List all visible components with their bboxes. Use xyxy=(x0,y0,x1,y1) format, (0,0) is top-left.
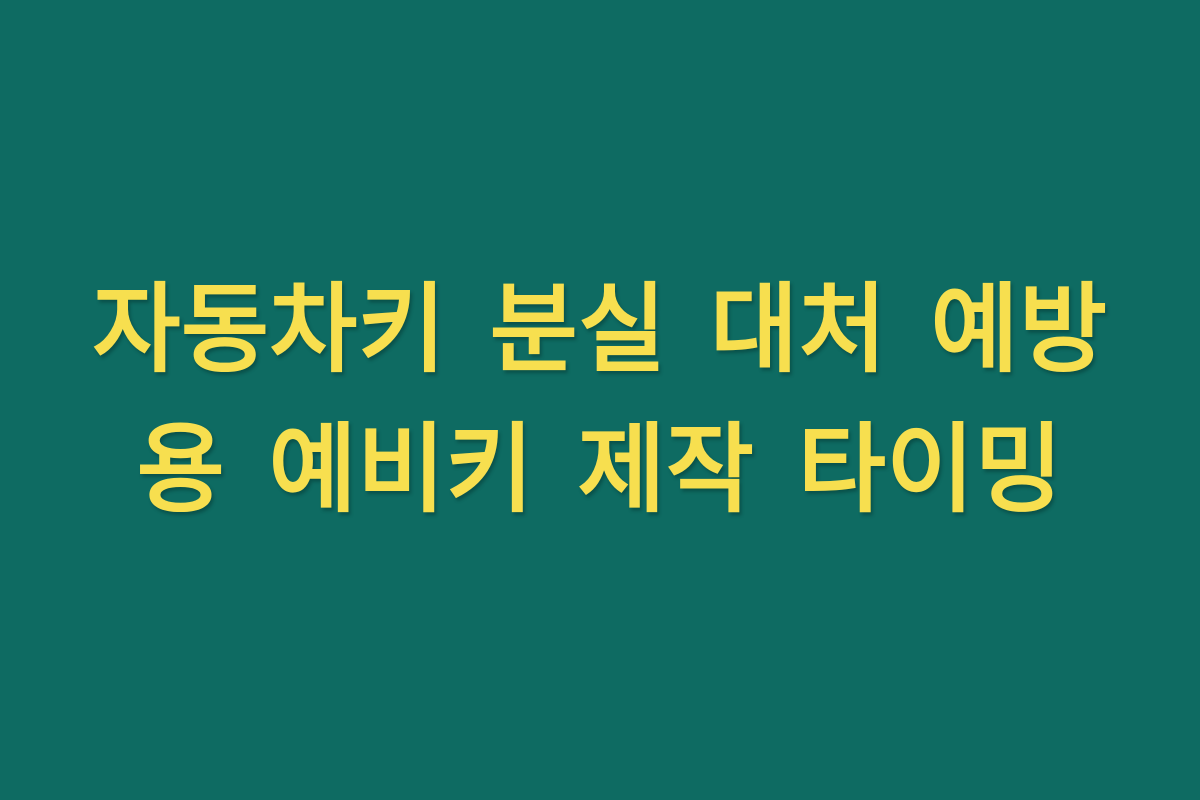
headline-line-2: 용 예비키 제작 타이밍 xyxy=(58,400,1142,540)
banner-canvas: 자동차키 분실 대처 예방 용 예비키 제작 타이밍 xyxy=(0,0,1200,800)
page-title: 자동차키 분실 대처 예방 용 예비키 제작 타이밍 xyxy=(58,260,1142,540)
headline-line-1: 자동차키 분실 대처 예방 xyxy=(58,260,1142,400)
